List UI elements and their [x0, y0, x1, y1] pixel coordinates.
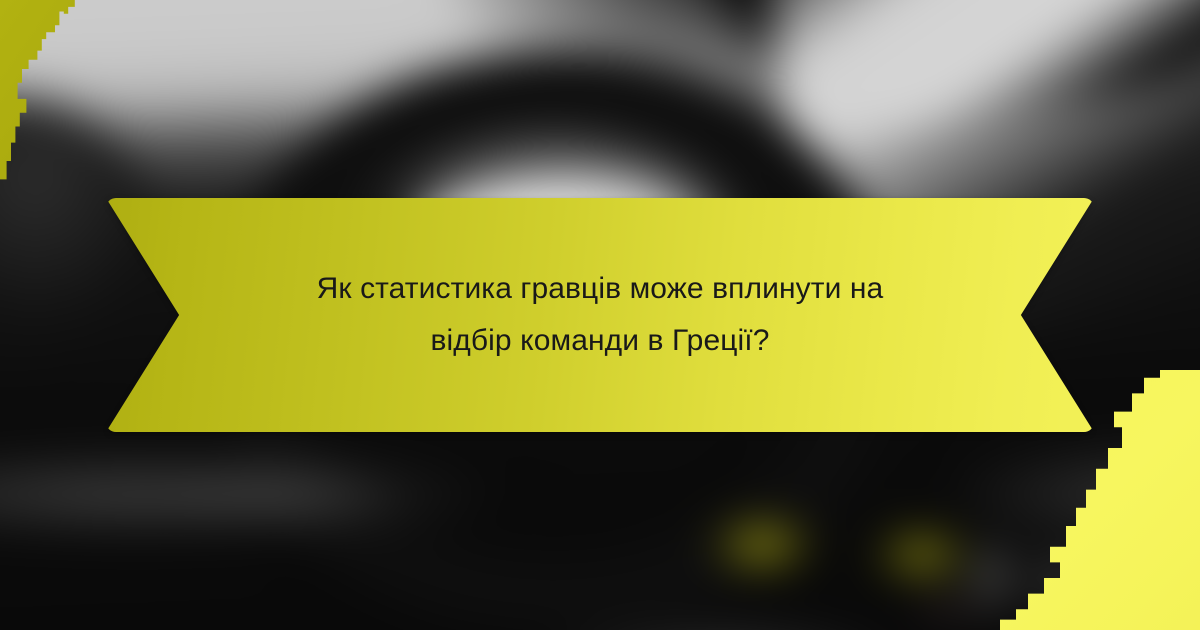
poster-canvas: Як статистика гравців може вплинути на в… [0, 0, 1200, 630]
background-gauge-glow-right [874, 533, 969, 576]
headline-text-block: Як статистика гравців може вплинути на в… [106, 198, 1094, 432]
headline-line-1: Як статистика гравців може вплинути на [317, 272, 884, 306]
background-gauge-glow-left [712, 522, 813, 567]
headline-line-2: відбір команди в Греції? [430, 324, 769, 358]
background-control-knob-left [970, 545, 1022, 623]
